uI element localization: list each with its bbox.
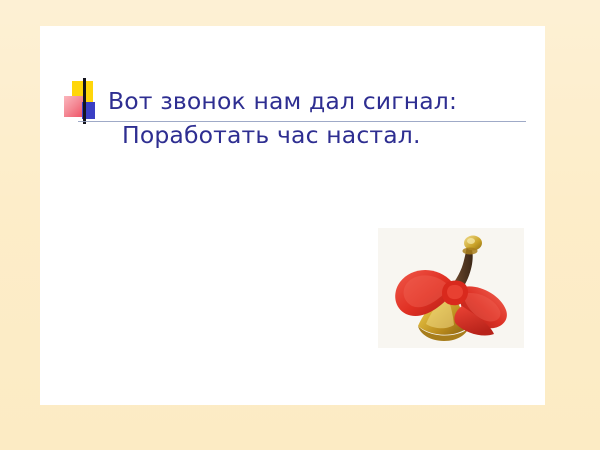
vertical-bar-icon: [83, 78, 86, 124]
slide-canvas: Вот звонок нам дал сигнал: Поработать ча…: [40, 26, 545, 405]
decorative-bullet-ornament: [64, 78, 100, 126]
verse-line-1: Вот звонок нам дал сигнал:: [108, 84, 528, 118]
verse-line-2: Поработать час настал.: [108, 118, 528, 152]
verse-text-block: Вот звонок нам дал сигнал: Поработать ча…: [108, 84, 528, 152]
presentation-frame: Вот звонок нам дал сигнал: Поработать ча…: [0, 0, 600, 450]
bell-image: [378, 228, 524, 348]
